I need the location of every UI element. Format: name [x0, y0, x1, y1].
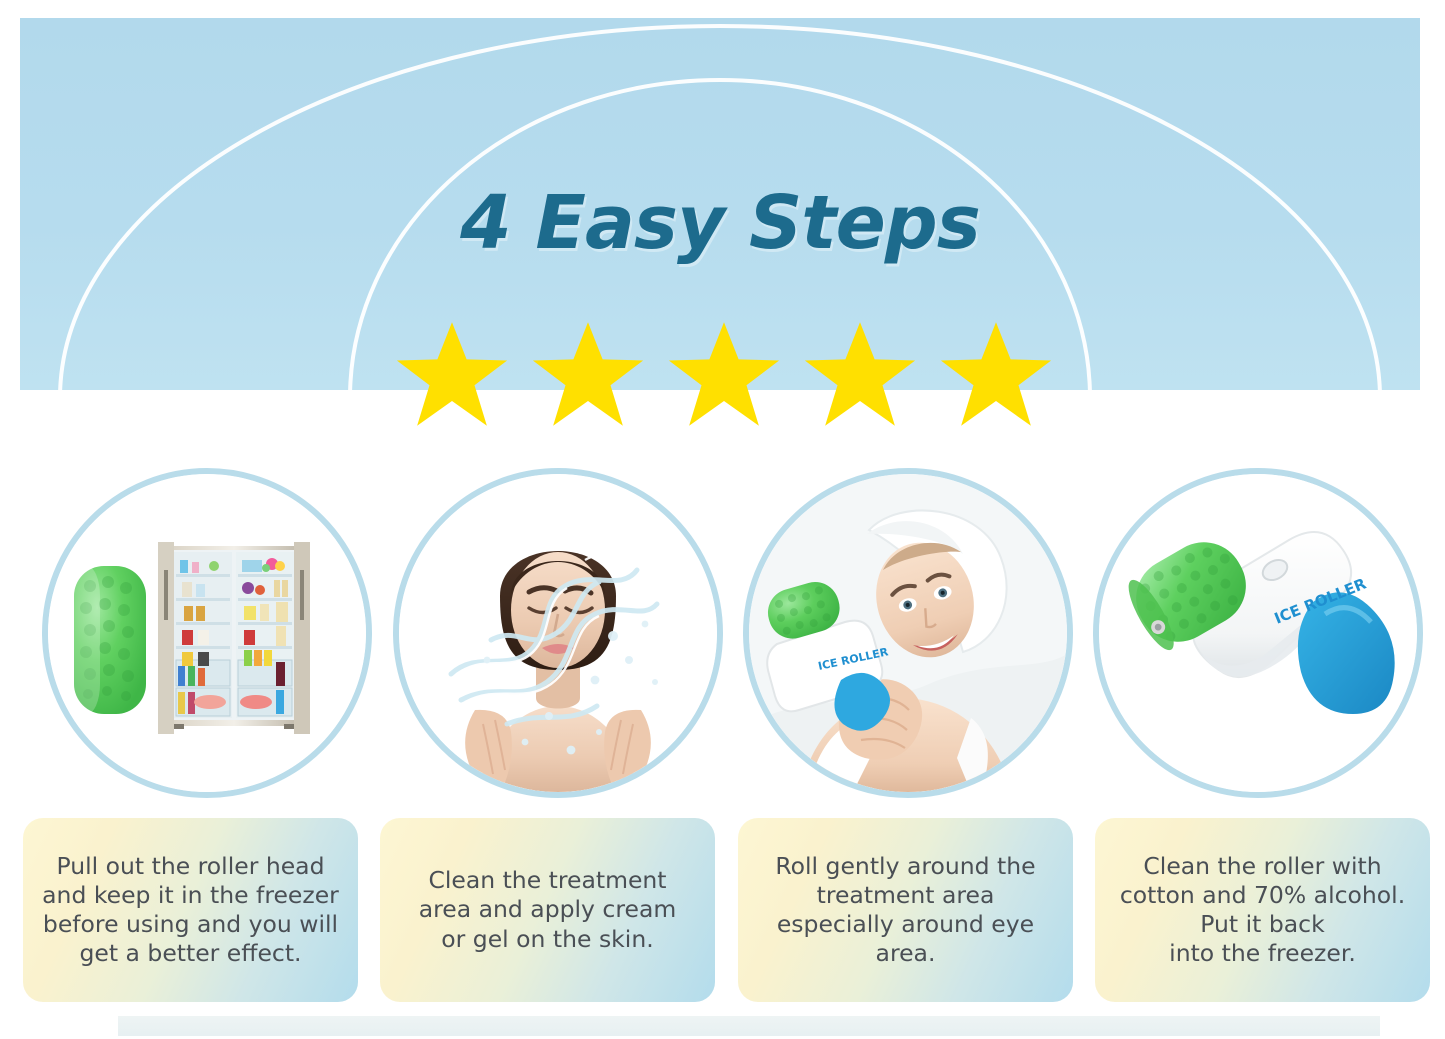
bottom-divider-strip [118, 1016, 1380, 1036]
step-caption-card-1: Pull out the roller head and keep it in … [23, 818, 358, 1002]
circle-ring [42, 468, 372, 798]
step-caption-text-3: Roll gently around the treatment area es… [775, 852, 1035, 969]
step-image-1 [42, 468, 372, 798]
star-rating [388, 320, 1060, 430]
circle-ring: ICE ROLLER [1093, 468, 1423, 798]
step-captions-row: Pull out the roller head and keep it in … [0, 818, 1445, 1004]
step-caption-text-4: Clean the roller with cotton and 70% alc… [1120, 852, 1405, 969]
roller-head-and-freezer-photo [48, 474, 366, 792]
star-icon [524, 320, 652, 428]
circle-ring [393, 468, 723, 798]
step-caption-text-1: Pull out the roller head and keep it in … [42, 852, 339, 969]
step-caption-text-2: Clean the treatment area and apply cream… [419, 866, 677, 953]
step-caption-card-3: Roll gently around the treatment area es… [738, 818, 1073, 1002]
page-title: 4 Easy Steps [20, 186, 1420, 260]
green-roller-head [74, 566, 146, 714]
star-icon-glyph [388, 320, 516, 428]
star-icon-glyph [660, 320, 788, 428]
ice-roller-disassembled-photo: ICE ROLLER [1099, 474, 1417, 792]
star-icon-glyph [524, 320, 652, 428]
step-images-row: ICE ROLLER [0, 468, 1445, 808]
step-caption-card-4: Clean the roller with cotton and 70% alc… [1095, 818, 1430, 1002]
circle-ring: ICE ROLLER [743, 468, 1073, 798]
step-caption-card-2: Clean the treatment area and apply cream… [380, 818, 715, 1002]
star-icon [932, 320, 1060, 428]
infographic-root: 4 Easy Steps [0, 0, 1445, 1039]
step-image-3: ICE ROLLER [743, 468, 1073, 798]
star-icon-glyph [796, 320, 924, 428]
step-image-2 [393, 468, 723, 798]
star-icon [388, 320, 516, 428]
step-image-4: ICE ROLLER [1093, 468, 1423, 798]
refrigerator [158, 542, 310, 734]
star-icon [796, 320, 924, 428]
woman-washing-face-photo [399, 474, 717, 792]
star-icon-glyph [932, 320, 1060, 428]
woman-using-ice-roller-photo: ICE ROLLER [749, 474, 1067, 792]
star-icon [660, 320, 788, 428]
